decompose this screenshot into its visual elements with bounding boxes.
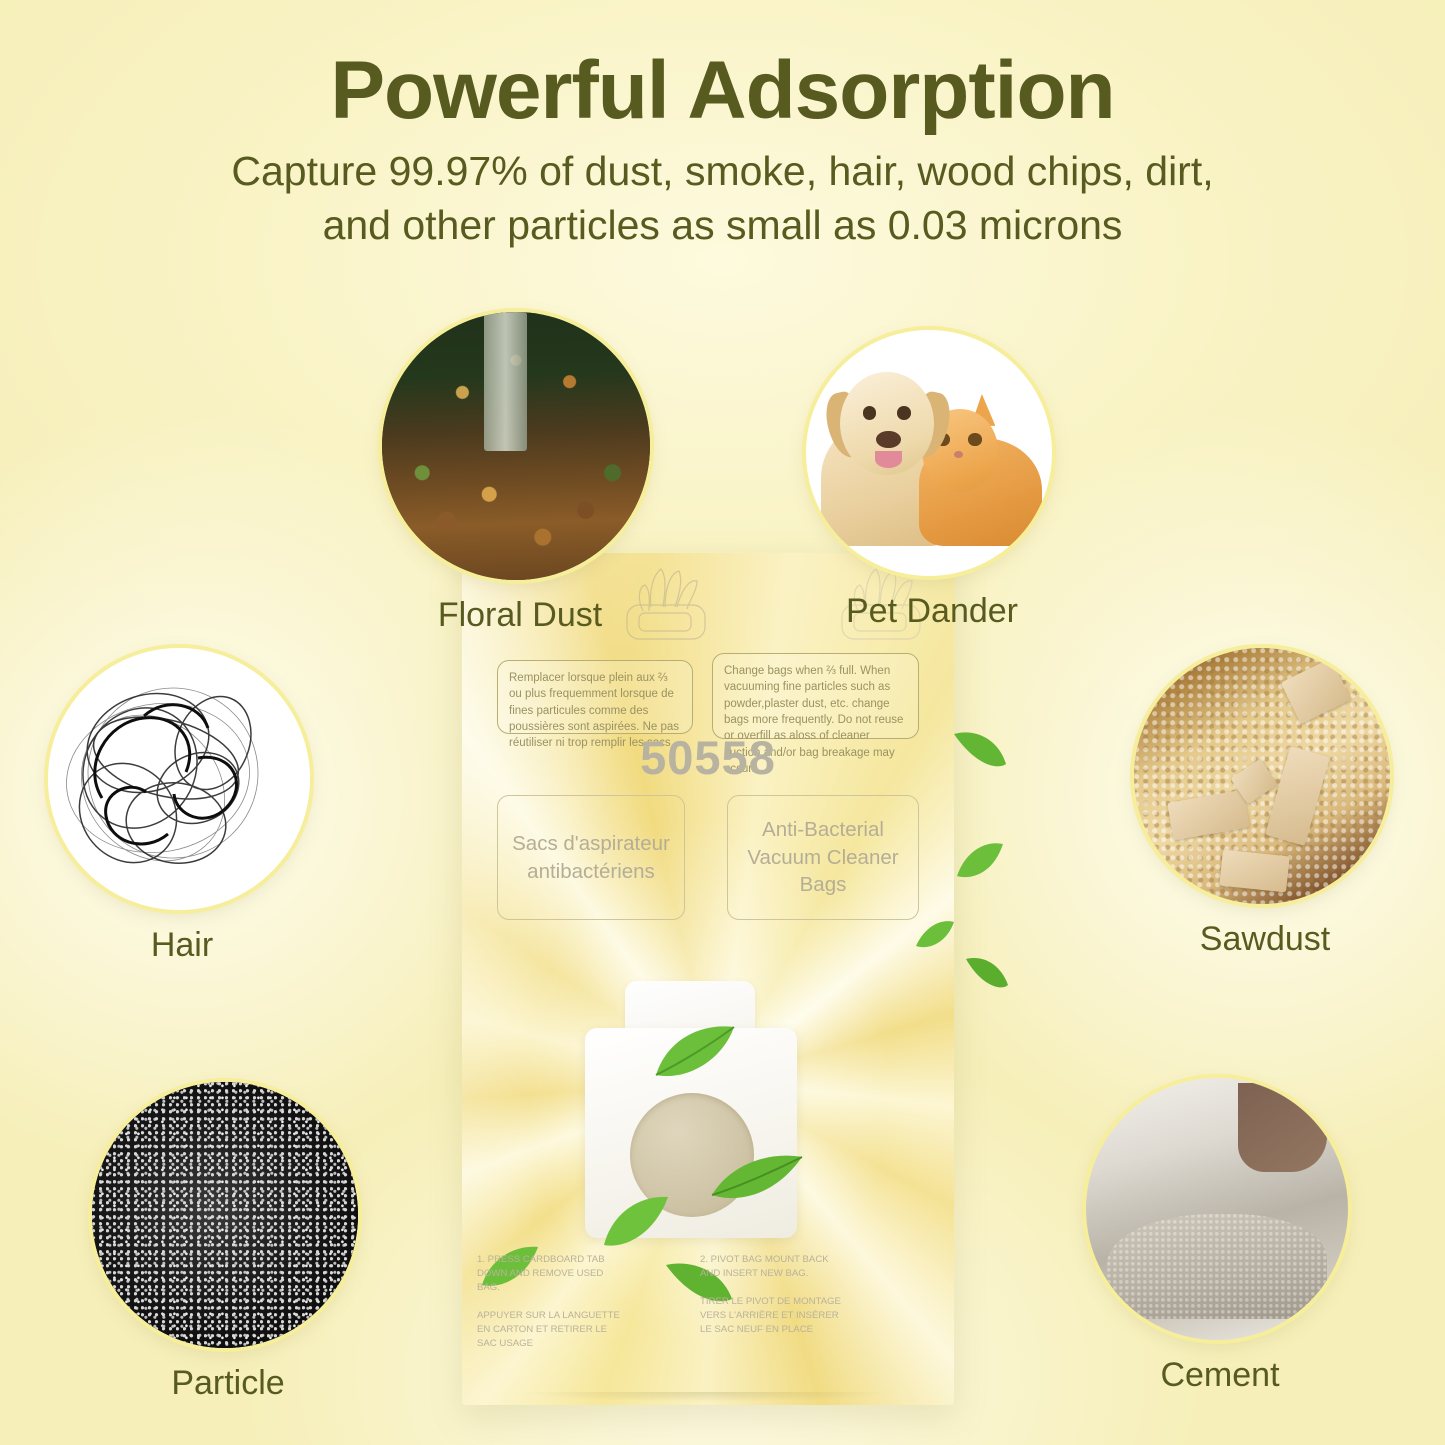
sawdust-image (1134, 648, 1390, 904)
dog-mouth (875, 451, 902, 468)
feature-particle: Particle (92, 1082, 364, 1403)
product-bag-image: Remplacer lorsque plein aux ⅔ ou plus fr… (462, 553, 954, 1405)
feature-floral-dust: Floral Dust (382, 312, 658, 635)
cement-background-dark (1238, 1083, 1327, 1172)
cat-eye-right (968, 433, 982, 445)
bag-step-2: 2. PIVOT BAG MOUNT BACK AND INSERT NEW B… (700, 1253, 850, 1337)
bag-note-english: Change bags when ⅔ full. When vacuuming … (712, 653, 919, 739)
bag-step-2-english: 2. PIVOT BAG MOUNT BACK AND INSERT NEW B… (700, 1253, 850, 1281)
bag-note-french: Remplacer lorsque plein aux ⅔ ou plus fr… (497, 660, 693, 734)
page-subtitle: Capture 99.97% of dust, smoke, hair, woo… (143, 144, 1303, 252)
bag-step-2-french: TIRER LE PIVOT DE MONTAGE VERS L'ARRIÈRE… (700, 1295, 850, 1337)
wood-chip (1167, 790, 1249, 841)
bag-intake-hole (630, 1093, 754, 1217)
feature-label: Pet Dander (806, 592, 1058, 631)
wood-chip (1280, 658, 1351, 724)
dog-nose (876, 431, 901, 448)
hair-strands-icon (48, 648, 310, 910)
bag-panel-english: Anti-Bacterial Vacuum Cleaner Bags (727, 795, 919, 920)
pet-dander-image (806, 330, 1052, 576)
subtitle-line-2: and other particles as small as 0.03 mic… (143, 198, 1303, 252)
hair-image (48, 648, 310, 910)
particle-image (92, 1082, 358, 1348)
subtitle-line-1: Capture 99.97% of dust, smoke, hair, woo… (143, 144, 1303, 198)
page-title: Powerful Adsorption (0, 48, 1445, 134)
leaf-icon (962, 955, 1010, 991)
cat-nose (954, 451, 964, 458)
sawdust-art (1134, 648, 1390, 904)
infographic-canvas: Powerful Adsorption Capture 99.97% of du… (0, 0, 1445, 1445)
hair-art (48, 648, 310, 910)
wood-chip (1265, 747, 1330, 847)
feature-label: Sawdust (1134, 920, 1396, 959)
bag-step-1: 1. PRESS CARDBOARD TAB DOWN AND REMOVE U… (477, 1253, 627, 1350)
floral-dust-art (382, 312, 650, 580)
feature-label: Cement (1086, 1356, 1354, 1395)
cement-pile (1107, 1214, 1327, 1319)
particle-art (92, 1082, 358, 1348)
cement-art (1086, 1078, 1348, 1340)
dog-eye-left (863, 406, 877, 420)
feature-hair: Hair (48, 648, 316, 965)
wood-chip (1219, 849, 1289, 892)
bag-panel-french: Sacs d'aspirateur antibactériens (497, 795, 685, 920)
feature-label: Floral Dust (382, 596, 658, 635)
feature-cement: Cement (1086, 1078, 1354, 1395)
bag-step-1-french: APPUYER SUR LA LANGUETTE EN CARTON ET RE… (477, 1309, 627, 1351)
dog-eye-right (897, 406, 911, 420)
leaf-icon (950, 728, 1008, 770)
feature-label: Hair (48, 926, 316, 965)
bag-drop-shadow (462, 1392, 954, 1418)
bag-model-number: 50558 (462, 730, 954, 785)
floral-dust-image (382, 312, 650, 580)
header-block: Powerful Adsorption Capture 99.97% of du… (0, 48, 1445, 252)
cement-image (1086, 1078, 1348, 1340)
leaf-icon (955, 840, 1007, 880)
feature-pet-dander: Pet Dander (806, 330, 1058, 631)
feature-label: Particle (92, 1364, 364, 1403)
feature-sawdust: Sawdust (1134, 648, 1396, 959)
bag-step-1-english: 1. PRESS CARDBOARD TAB DOWN AND REMOVE U… (477, 1253, 627, 1295)
pet-dander-art (806, 330, 1052, 576)
